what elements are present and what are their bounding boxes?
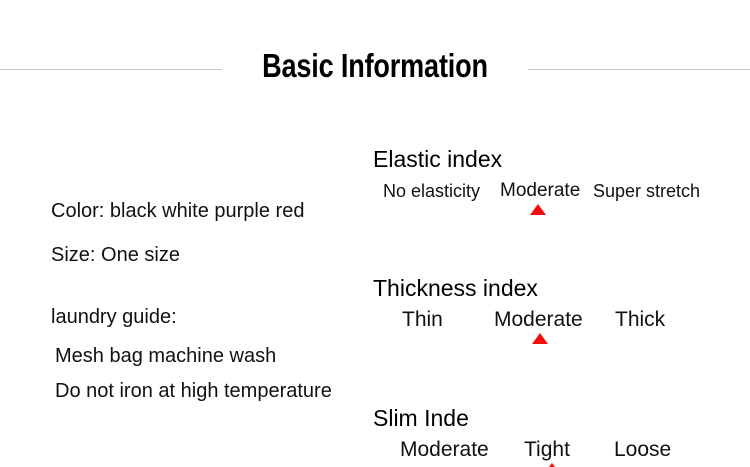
scale-row-thickness: Thin Moderate Thick: [373, 308, 743, 354]
index-scales: Elastic index No elasticity Moderate Sup…: [373, 146, 743, 467]
scale-option-slim-2[interactable]: Loose: [614, 438, 671, 462]
scale-option-elastic-2[interactable]: Super stretch: [593, 179, 700, 203]
scale-option-slim-0[interactable]: Moderate: [400, 438, 489, 462]
scale-option-elastic-1[interactable]: Moderate: [500, 179, 580, 203]
laundry-instruction-iron: Do not iron at high temperature: [51, 380, 381, 402]
scale-row-elastic: No elasticity Moderate Super stretch: [373, 179, 743, 225]
scale-option-label: Super stretch: [593, 179, 700, 203]
basic-information-graphic: Basic Information Color: black white pur…: [0, 0, 750, 467]
scale-option-label: Thick: [615, 308, 665, 332]
laundry-instruction-wash: Mesh bag machine wash: [51, 345, 381, 367]
selected-marker-triangle-icon: [530, 204, 546, 215]
index-title-thickness: Thickness index: [373, 275, 743, 302]
info-color: Color: black white purple red: [51, 200, 381, 222]
scale-option-label: Moderate: [494, 308, 583, 332]
index-block-slim: Slim Inde Moderate Tight Loose: [373, 405, 743, 467]
index-block-elastic: Elastic index No elasticity Moderate Sup…: [373, 146, 743, 225]
scale-option-label: Thin: [402, 308, 443, 332]
selected-marker-triangle-icon: [532, 333, 548, 344]
index-title-slim: Slim Inde: [373, 405, 743, 432]
scale-option-label: No elasticity: [383, 179, 480, 203]
index-title-elastic: Elastic index: [373, 146, 743, 173]
scale-option-label: Loose: [614, 438, 671, 462]
selected-marker-triangle-icon: [544, 463, 560, 467]
scale-row-slim: Moderate Tight Loose: [373, 438, 743, 467]
scale-option-elastic-0[interactable]: No elasticity: [383, 179, 480, 203]
page-header: Basic Information: [0, 44, 750, 92]
basic-info-list: Color: black white purple red Size: One …: [51, 200, 381, 402]
scale-option-thickness-0[interactable]: Thin: [402, 308, 443, 332]
scale-option-label: Moderate: [500, 179, 580, 203]
laundry-guide-heading: laundry guide:: [51, 306, 381, 328]
scale-option-thickness-2[interactable]: Thick: [615, 308, 665, 332]
index-block-thickness: Thickness index Thin Moderate Thick: [373, 275, 743, 354]
scale-option-slim-1[interactable]: Tight: [524, 438, 570, 462]
scale-option-thickness-1[interactable]: Moderate: [494, 308, 583, 332]
scale-option-label: Moderate: [400, 438, 489, 462]
page-title: Basic Information: [68, 44, 683, 88]
scale-option-label: Tight: [524, 438, 570, 462]
info-size: Size: One size: [51, 244, 381, 266]
